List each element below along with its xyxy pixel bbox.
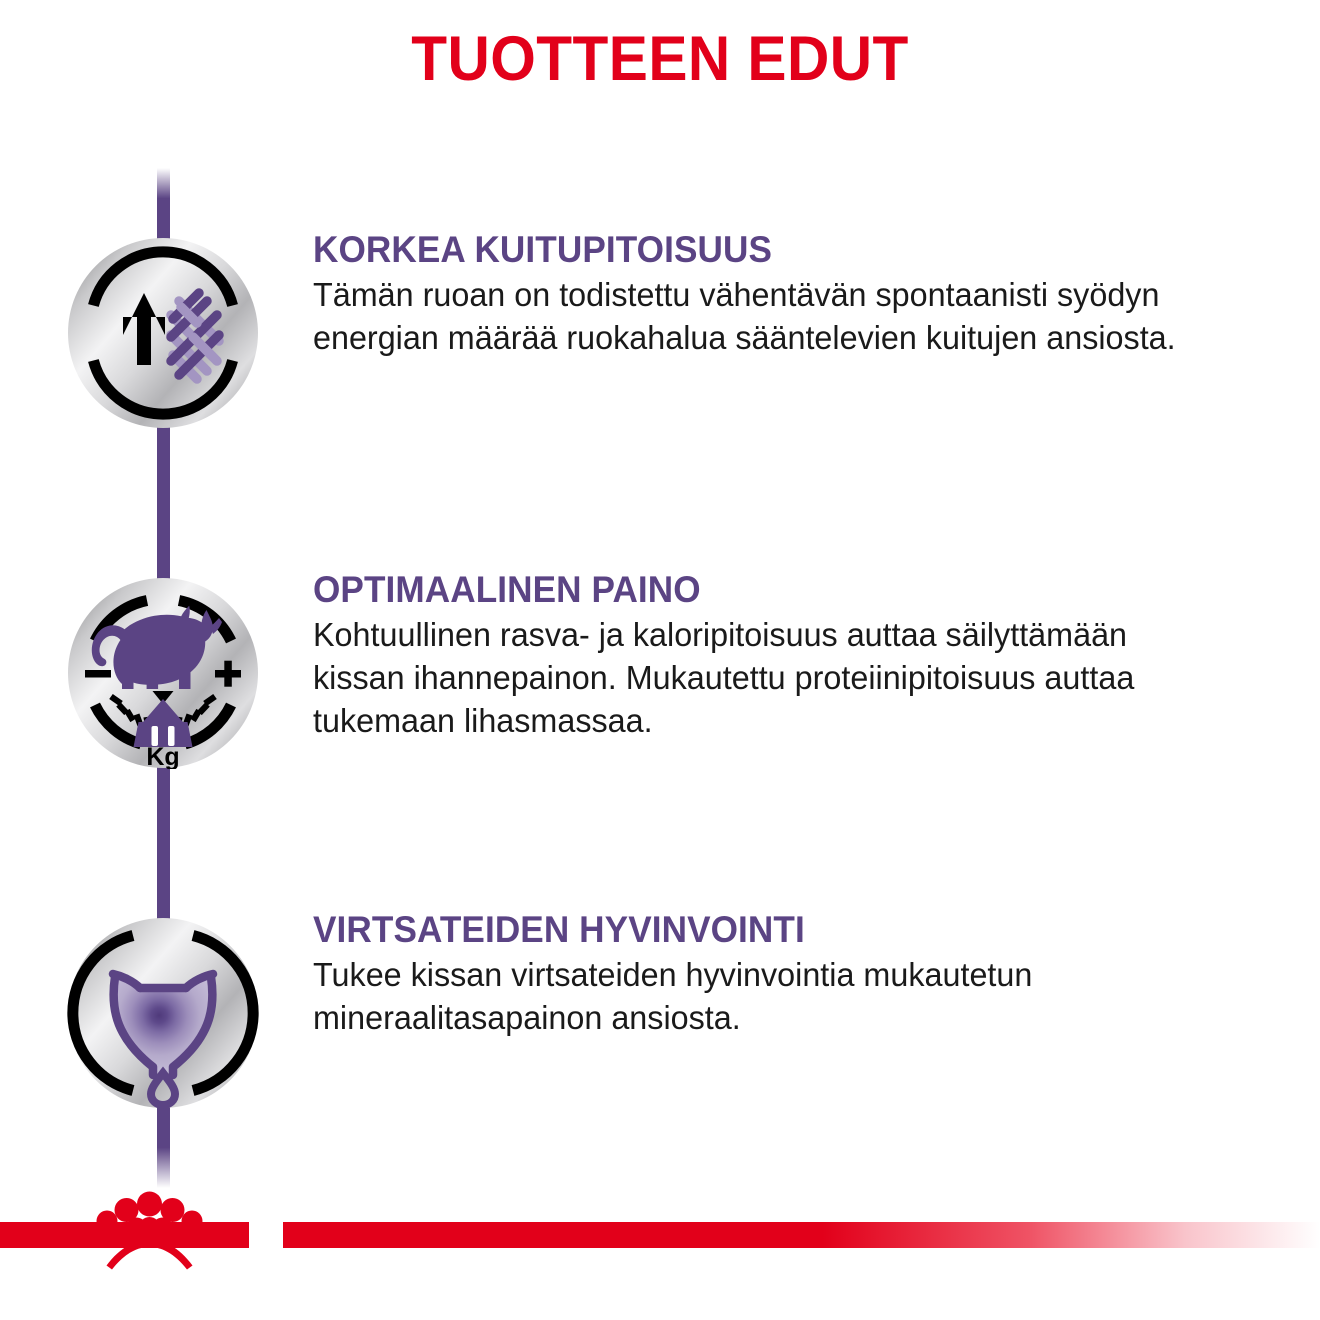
royal-canin-crown-logo <box>93 1189 206 1282</box>
optimal-weight-scale-icon: Kg <box>67 577 259 769</box>
timeline-connector-top <box>157 168 170 248</box>
footer-bar-right <box>283 1222 1320 1248</box>
footer <box>0 1222 1320 1248</box>
high-fiber-icon <box>67 237 259 429</box>
benefit-text-block: VIRTSATEIDEN HYVINVOINTI Tukee kissan vi… <box>313 910 1233 1041</box>
page-title: TUOTTEEN EDUT <box>46 28 1274 91</box>
scale-minus-sign <box>85 670 111 678</box>
benefit-description: Kohtuullinen rasva- ja kaloripitoisuus a… <box>313 615 1201 744</box>
benefit-text-block: OPTIMAALINEN PAINO Kohtuullinen rasva- j… <box>313 570 1233 744</box>
benefit-title: KORKEA KUITUPITOISUUS <box>313 230 1187 270</box>
benefit-description: Tukee kissan virtsateiden hyvinvointia m… <box>313 955 1201 1041</box>
benefit-description: Tämän ruoan on todistettu vähentävän spo… <box>313 275 1201 361</box>
benefit-title: OPTIMAALINEN PAINO <box>313 570 1187 610</box>
timeline-connector-bottom <box>157 1098 170 1188</box>
scale-unit-label: Kg <box>146 743 179 769</box>
benefit-title: VIRTSATEIDEN HYVINVOINTI <box>313 910 1187 950</box>
benefit-text-block: KORKEA KUITUPITOISUUS Tämän ruoan on tod… <box>313 230 1233 361</box>
timeline-connector-middle-2 <box>157 758 170 928</box>
timeline-connector-middle-1 <box>157 418 170 588</box>
urinary-health-bladder-icon <box>67 917 259 1109</box>
product-benefits-page: TUOTTEEN EDUT <box>0 0 1320 1320</box>
